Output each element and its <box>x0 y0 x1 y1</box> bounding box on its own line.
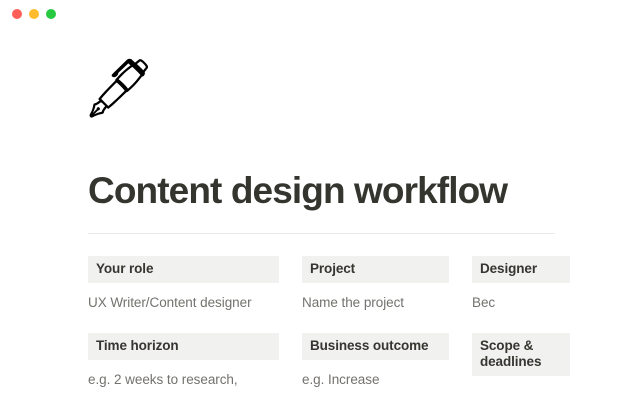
property-row: Your role UX Writer/Content designer Pro… <box>88 256 640 312</box>
traffic-light-controls <box>12 9 56 19</box>
property-label[interactable]: Project <box>302 256 449 283</box>
property-designer: Designer Bec <box>472 256 640 312</box>
property-value[interactable]: UX Writer/Content designer <box>88 294 302 312</box>
page-title[interactable]: Content design workflow <box>88 170 507 212</box>
window-titlebar <box>0 0 640 28</box>
property-business-outcome: Business outcome e.g. Increase <box>302 333 472 389</box>
fountain-pen-emoji[interactable]: 🖋 <box>82 60 156 118</box>
property-scope-deadlines: Scope & deadlines <box>472 333 640 389</box>
property-label[interactable]: Scope & deadlines <box>472 333 570 376</box>
close-window-icon[interactable] <box>12 9 22 19</box>
property-value[interactable]: Name the project <box>302 294 472 312</box>
property-your-role: Your role UX Writer/Content designer <box>88 256 302 312</box>
document-body: 🖋 Content design workflow Your role UX W… <box>0 28 640 400</box>
title-divider <box>88 233 555 234</box>
property-row: Time horizon e.g. 2 weeks to research, B… <box>88 333 640 389</box>
minimize-window-icon[interactable] <box>29 9 39 19</box>
property-label[interactable]: Time horizon <box>88 333 279 360</box>
property-project: Project Name the project <box>302 256 472 312</box>
property-label[interactable]: Designer <box>472 256 570 283</box>
property-value[interactable]: Bec <box>472 294 640 312</box>
property-value[interactable]: e.g. Increase <box>302 371 472 389</box>
property-time-horizon: Time horizon e.g. 2 weeks to research, <box>88 333 302 389</box>
property-grid: Your role UX Writer/Content designer Pro… <box>88 256 640 389</box>
app-window: 🖋 Content design workflow Your role UX W… <box>0 0 640 400</box>
property-label[interactable]: Business outcome <box>302 333 449 360</box>
property-label[interactable]: Your role <box>88 256 279 283</box>
maximize-window-icon[interactable] <box>46 9 56 19</box>
property-value[interactable]: e.g. 2 weeks to research, <box>88 371 302 389</box>
